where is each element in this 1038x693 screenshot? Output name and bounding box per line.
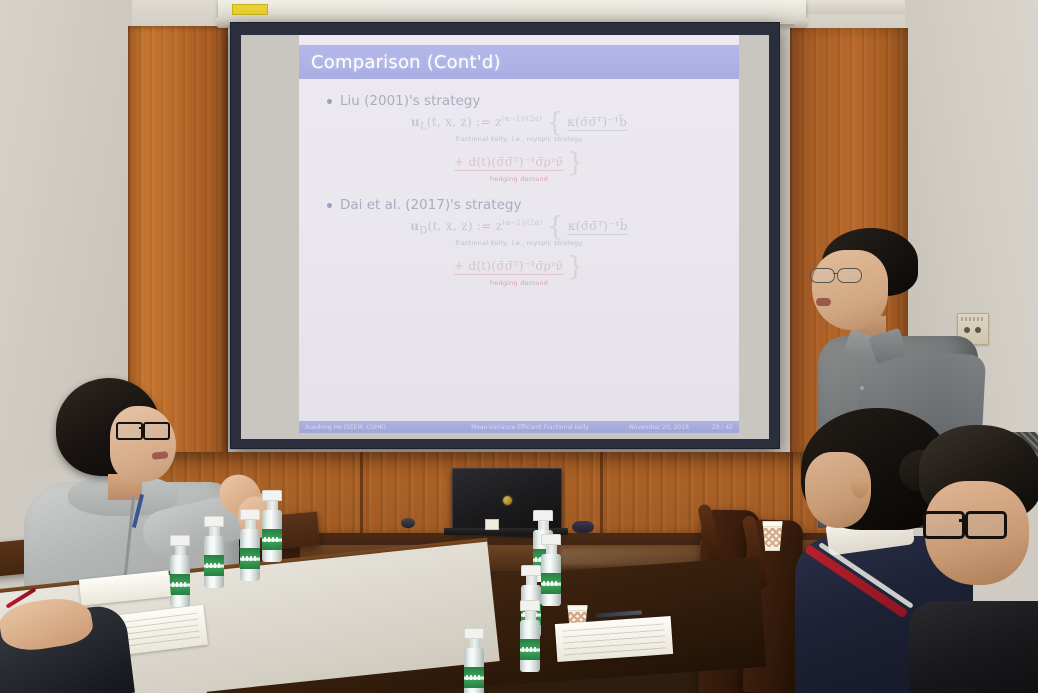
formula-2-myopic-annotation: fractional Kelly, i.e., myopic strategy: [299, 239, 739, 247]
water-bottle: [520, 600, 540, 672]
formula-2-sub: D: [419, 225, 427, 236]
formula-2-hedge-annotation: hedging demand: [299, 279, 739, 287]
footer-talk-title: Mean-Variance Efficient Fractional Kelly: [455, 424, 605, 431]
formula-1-brace: {: [546, 108, 563, 138]
formula-1: uL(t, x, z) := z(α−1)/(2α) { κ(σ̄σ̄ᵀ)⁻¹b…: [299, 115, 739, 183]
formula-1-args: (t, x, z) :=: [427, 115, 491, 129]
formula-1-sub: L: [420, 121, 427, 132]
bullet-label-1: Liu (2001)'s strategy: [340, 93, 480, 109]
formula-2-line-1: uD(t, x, z) := z(α−1)/(2α) { κ(σ̄σ̄ᵀ)⁻¹b…: [299, 219, 739, 237]
table-microphone-puck: [401, 518, 415, 528]
slide-title: Comparison (Cont'd): [311, 52, 501, 73]
presentation-room-photo: Comparison (Cont'd) Liu (2001)'s strateg…: [0, 0, 1038, 693]
formula-1-myopic-term: κ(σ̄σ̄ᵀ)⁻¹b̄: [567, 115, 627, 129]
formula-2-brace: {: [547, 212, 564, 242]
slide-title-bar: Comparison (Cont'd): [299, 45, 739, 79]
slide-bullet-1: Liu (2001)'s strategy: [327, 93, 739, 109]
bullet-dot-icon: [327, 203, 332, 208]
formula-2-myopic-term: κ(σ̄σ̄ᵀ)⁻¹b̄: [568, 219, 628, 233]
footer-author: Xuedong He (SEEM, CUHK): [305, 424, 455, 431]
formula-2-args: (t, x, z) :=: [428, 219, 492, 233]
formula-1-hedge-term: + d(t)(σ̄σ̄ᵀ)⁻¹σ̄ρᶻν̄: [454, 155, 563, 169]
slide-footer: Xuedong He (SEEM, CUHK) Mean-Variance Ef…: [299, 421, 739, 433]
footer-date: November 20, 2018: [629, 424, 689, 431]
formula-1-myopic-annotation: fractional Kelly, i.e., myopic strategy: [299, 135, 739, 143]
water-bottle: [170, 535, 190, 607]
formula-1-base: z: [495, 115, 502, 129]
formula-1-line-2: + d(t)(σ̄σ̄ᵀ)⁻¹σ̄ρᶻν̄ }: [299, 155, 739, 173]
formula-1-brace-close: }: [567, 148, 584, 178]
slide-bullet-2: Dai et al. (2017)'s strategy: [327, 197, 739, 213]
formula-1-exp: (α−1)/(2α): [502, 115, 543, 123]
screen-surface: Comparison (Cont'd) Liu (2001)'s strateg…: [241, 35, 769, 439]
person-seated-man-front: [915, 425, 1038, 693]
desk-accessory-box: [485, 519, 499, 530]
formula-2-brace-close: }: [567, 252, 584, 282]
water-bottle: [240, 509, 260, 581]
projected-slide: Comparison (Cont'd) Liu (2001)'s strateg…: [299, 35, 739, 433]
water-bottle: [541, 534, 561, 606]
face: [110, 406, 176, 482]
glasses-icon: [116, 422, 170, 437]
formula-1-hedge-annotation: hedging demand: [299, 175, 739, 183]
formula-2-exp: (α−1)/(2α): [502, 219, 543, 227]
housing-sticker: [232, 4, 268, 15]
formula-2: uD(t, x, z) := z(α−1)/(2α) { κ(σ̄σ̄ᵀ)⁻¹b…: [299, 219, 739, 287]
face: [812, 250, 888, 330]
formula-1-lhs: u: [411, 115, 420, 129]
formula-2-line-2: + d(t)(σ̄σ̄ᵀ)⁻¹σ̄ρᶻν̄ }: [299, 259, 739, 277]
formula-2-lhs: u: [410, 219, 419, 233]
document: [555, 616, 673, 662]
laptop-logo-icon: [503, 496, 512, 505]
formula-1-line-1: uL(t, x, z) := z(α−1)/(2α) { κ(σ̄σ̄ᵀ)⁻¹b…: [299, 115, 739, 133]
water-bottle: [262, 490, 282, 562]
bullet-dot-icon: [327, 99, 332, 104]
slide-body: Liu (2001)'s strategy uL(t, x, z) := z(α…: [299, 79, 739, 419]
bullet-label-2: Dai et al. (2017)'s strategy: [340, 197, 521, 213]
footer-page: 29 / 42: [689, 424, 733, 431]
mouse: [572, 521, 594, 533]
water-bottle: [464, 628, 484, 693]
projection-screen: Comparison (Cont'd) Liu (2001)'s strateg…: [230, 22, 780, 449]
glasses-icon: [923, 511, 1003, 535]
water-bottle: [204, 516, 224, 588]
glasses-icon: [810, 268, 864, 282]
formula-2-hedge-term: + d(t)(σ̄σ̄ᵀ)⁻¹σ̄ρᶻν̄: [454, 259, 563, 273]
